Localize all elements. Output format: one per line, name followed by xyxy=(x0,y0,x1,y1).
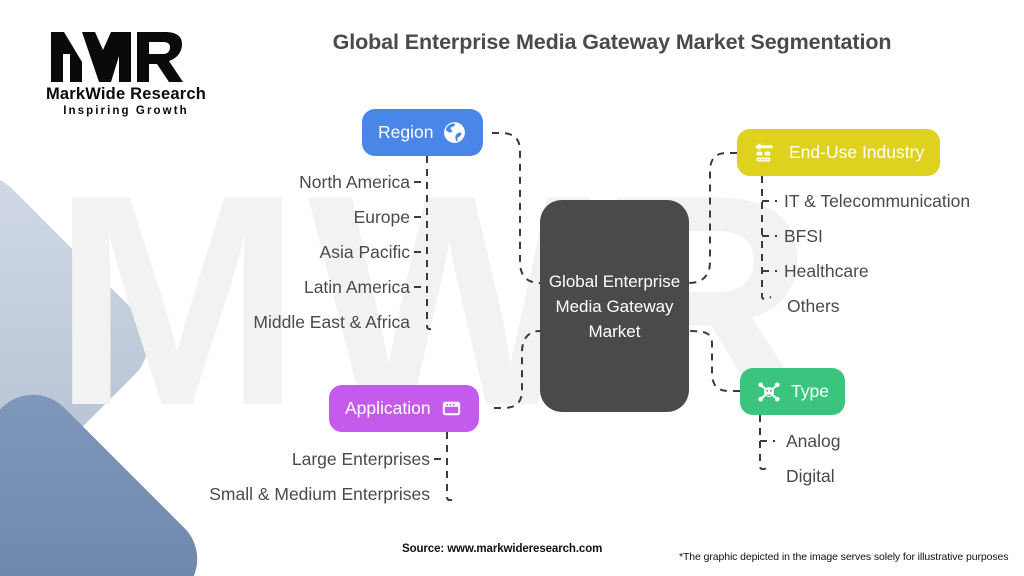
browser-window-icon xyxy=(440,397,463,420)
globe-icon xyxy=(442,120,467,145)
branch-label-type: Type xyxy=(791,381,829,402)
branch-label-application: Application xyxy=(345,398,431,419)
leaf-region-asia-pacific: Asia Pacific xyxy=(180,242,410,263)
leaf-application-large-enterprises: Large Enterprises xyxy=(180,449,430,470)
branch-label-region: Region xyxy=(378,122,433,143)
page-title: Global Enterprise Media Gateway Market S… xyxy=(240,30,984,55)
leaf-enduse-healthcare: Healthcare xyxy=(784,261,869,282)
leaf-enduse-it-telecom: IT & Telecommunication xyxy=(784,191,970,212)
leaf-region-north-america: North America xyxy=(180,172,410,193)
branch-badge-application[interactable]: Application xyxy=(329,385,479,432)
center-node: Global Enterprise Media Gateway Market xyxy=(540,200,689,412)
branch-badge-type[interactable]: Type xyxy=(740,368,845,415)
mwr-monogram-icon xyxy=(49,28,204,84)
logo-company-name: MarkWide Research xyxy=(28,85,224,104)
leaf-enduse-bfsi: BFSI xyxy=(784,226,823,247)
branch-label-end-use-industry: End-Use Industry xyxy=(789,142,924,163)
leaf-type-digital: Digital xyxy=(786,466,835,487)
leaf-region-latin-america: Latin America xyxy=(180,277,410,298)
leaf-region-europe: Europe xyxy=(180,207,410,228)
leaf-enduse-others: Others xyxy=(787,296,840,317)
infographic-canvas: MWR MarkWide Research Inspiring Growth G… xyxy=(0,0,1024,576)
logo-tagline: Inspiring Growth xyxy=(28,105,224,117)
leaf-region-middle-east-africa: Middle East & Africa xyxy=(160,312,410,333)
branch-badge-end-use-industry[interactable]: End-Use Industry xyxy=(737,129,940,176)
network-nodes-icon xyxy=(756,379,782,405)
source-credit: Source: www.markwideresearch.com xyxy=(402,543,602,555)
brand-logo: MarkWide Research Inspiring Growth xyxy=(28,28,224,117)
leaf-type-analog: Analog xyxy=(786,431,841,452)
server-rack-icon xyxy=(753,139,780,166)
leaf-application-small-medium-enterprises: Small & Medium Enterprises xyxy=(140,484,430,505)
disclaimer-note: *The graphic depicted in the image serve… xyxy=(679,551,1008,563)
branch-badge-region[interactable]: Region xyxy=(362,109,483,156)
